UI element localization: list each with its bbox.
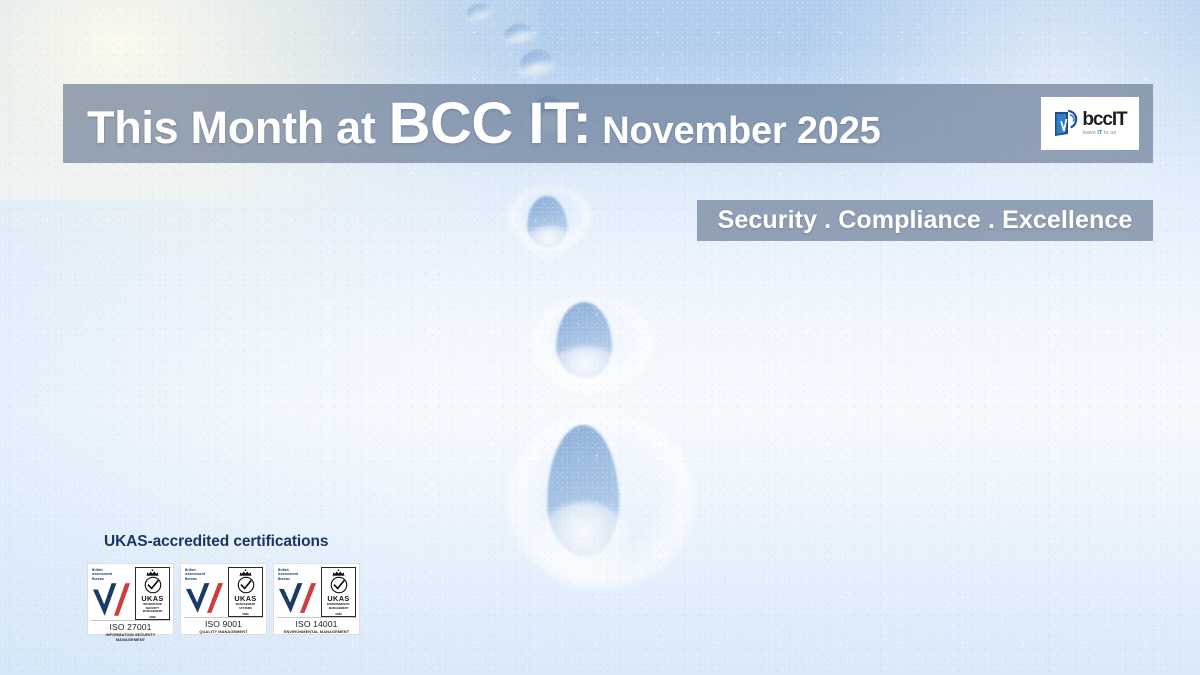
tagline-text: Security . Compliance . Excellence — [718, 206, 1133, 235]
ukas-accreditation-number: 0089 — [149, 615, 155, 619]
ukas-sub-line2: MANAGEMENT — [136, 610, 169, 613]
logo-wordmark: bccIT — [1082, 110, 1126, 129]
bab-check-icon — [277, 582, 320, 616]
certification-badge-iso9001[interactable]: British Assessment Bureau — [180, 563, 267, 635]
ukas-sub-line2: MANAGEMENT — [327, 607, 350, 610]
ukas-word: UKAS — [141, 595, 163, 602]
logo-tagline: leave IT to us — [1082, 131, 1126, 136]
ukas-sub-line2: SYSTEMS — [236, 607, 256, 610]
tick-circle-icon — [144, 576, 162, 594]
ukas-mark: UKAS MANAGEMENT SYSTEMS 0089 — [228, 567, 263, 617]
certification-badges: British Assessment Bureau — [87, 563, 360, 635]
iso-standard-name: ISO 27001 — [91, 623, 170, 632]
bab-check-icon — [91, 582, 134, 620]
tick-circle-icon — [330, 576, 348, 594]
bab-check-icon — [184, 582, 227, 616]
ukas-mark: UKAS ENVIRONMENTAL MANAGEMENT 0089 — [321, 567, 356, 617]
ukas-accreditation-number: 0089 — [242, 612, 248, 616]
certifications-heading: UKAS-accredited certifications — [104, 533, 360, 551]
british-assessment-bureau-logo: British Assessment Bureau — [184, 567, 227, 617]
bccit-logo[interactable]: bccIT leave IT to us — [1041, 97, 1139, 150]
bab-line3: Bureau — [278, 577, 320, 581]
ukas-word: UKAS — [234, 595, 256, 602]
ukas-accreditation-number: 0089 — [335, 612, 341, 616]
iso-desc-line1: QUALITY MANAGEMENT — [184, 630, 263, 635]
iso-standard-name: ISO 14001 — [277, 620, 356, 629]
crown-icon — [331, 569, 346, 576]
certifications-block: UKAS-accredited certifications British A… — [87, 533, 360, 635]
bab-line3: Bureau — [185, 577, 227, 581]
certification-badge-iso14001[interactable]: British Assessment Bureau — [273, 563, 360, 635]
crown-icon — [238, 569, 253, 576]
bab-line3: Bureau — [92, 577, 134, 581]
crown-icon — [145, 569, 160, 576]
title-brand: BCC IT: — [389, 90, 592, 157]
tagline-bar: Security . Compliance . Excellence — [697, 200, 1153, 241]
ukas-mark: UKAS INFORMATION SECURITY MANAGEMENT 008… — [135, 567, 170, 620]
tick-circle-icon — [237, 576, 255, 594]
page-title: This Month at BCC IT: November 2025 — [87, 90, 1041, 157]
newsletter-banner: This Month at BCC IT: November 2025 bccI… — [0, 0, 1200, 675]
title-month: November 2025 — [602, 110, 880, 153]
iso-desc-line2: MANAGEMENT — [91, 638, 170, 643]
ukas-word: UKAS — [327, 595, 349, 602]
iso-desc-line1: ENVIRONMENTAL MANAGEMENT — [277, 630, 356, 635]
bcc-shield-icon — [1053, 109, 1079, 139]
british-assessment-bureau-logo: British Assessment Bureau — [277, 567, 320, 617]
certification-badge-iso27001[interactable]: British Assessment Bureau — [87, 563, 174, 635]
iso-standard-name: ISO 9001 — [184, 620, 263, 629]
title-prefix: This Month at — [87, 102, 376, 154]
header-bar: This Month at BCC IT: November 2025 bccI… — [63, 84, 1153, 163]
british-assessment-bureau-logo: British Assessment Bureau — [91, 567, 134, 620]
